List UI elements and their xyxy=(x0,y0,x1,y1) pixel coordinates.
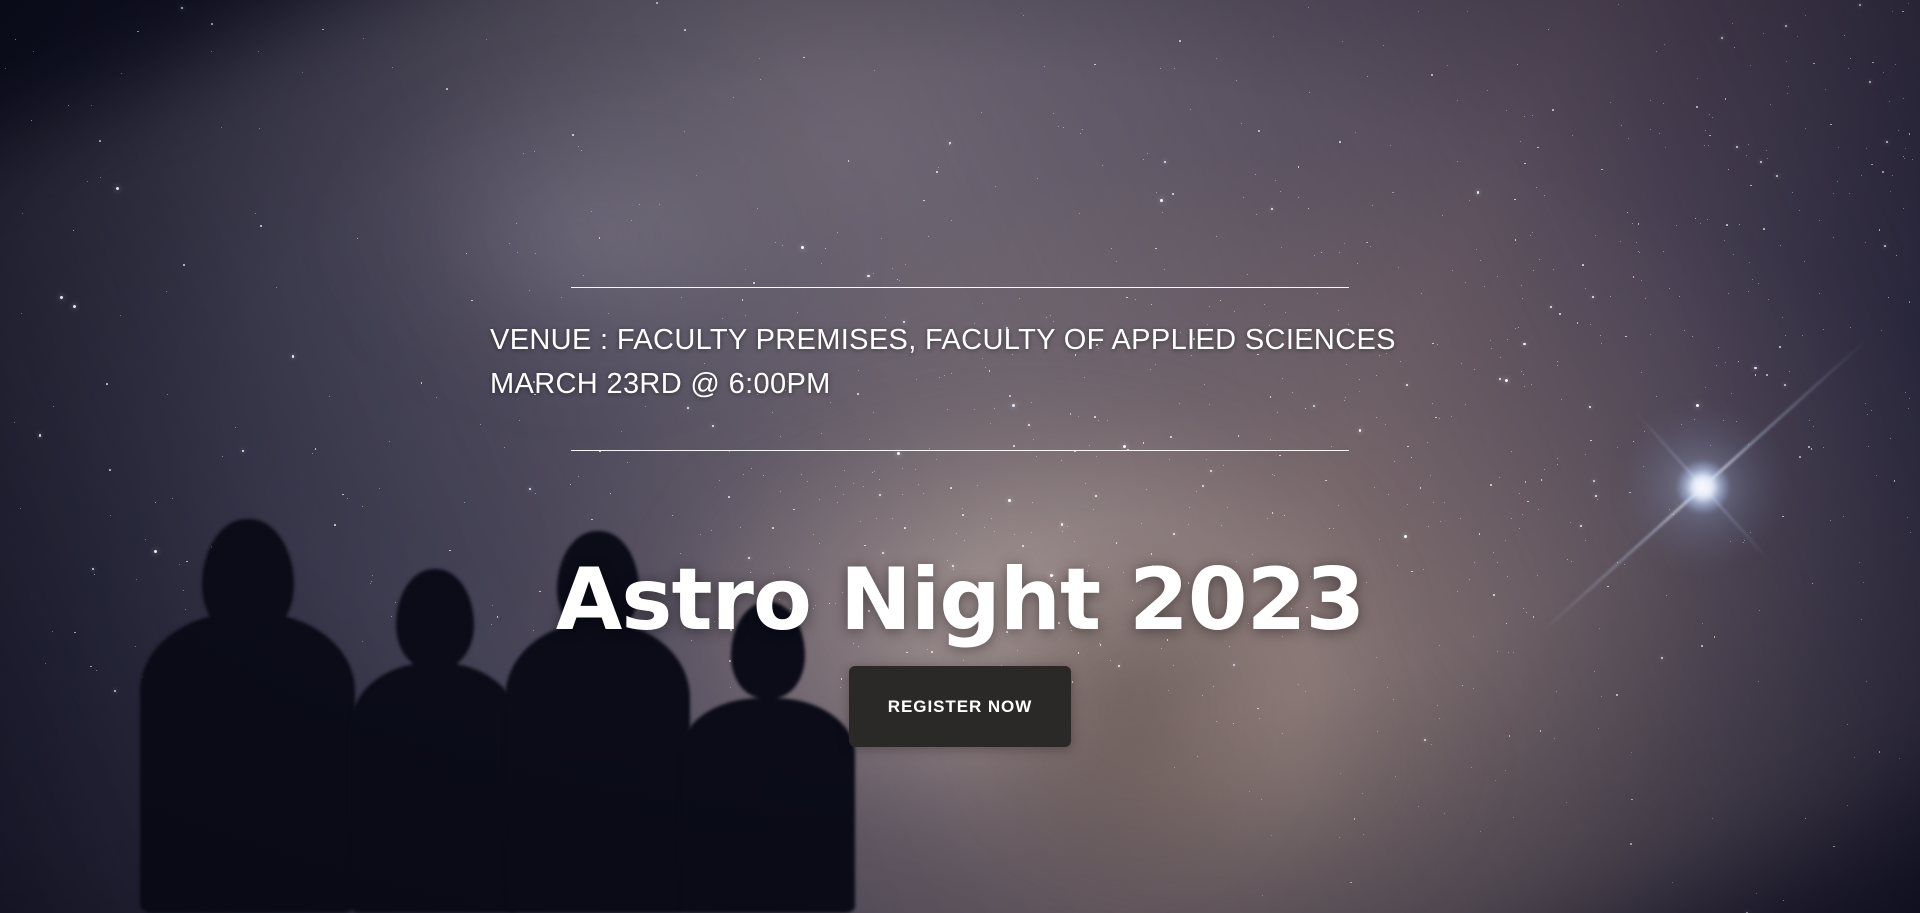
divider-bottom xyxy=(571,450,1349,451)
register-now-button[interactable]: REGISTER NOW xyxy=(849,666,1071,747)
page-title: Astro Night 2023 xyxy=(556,555,1364,646)
event-hero-banner: VENUE : FACULTY PREMISES, FACULTY OF APP… xyxy=(0,0,1920,913)
hero-content: VENUE : FACULTY PREMISES, FACULTY OF APP… xyxy=(0,0,1920,913)
event-details: VENUE : FACULTY PREMISES, FACULTY OF APP… xyxy=(490,318,1430,406)
datetime-line: MARCH 23RD @ 6:00PM xyxy=(490,362,1430,406)
divider-top xyxy=(571,287,1349,288)
cta-container: REGISTER NOW xyxy=(849,666,1071,747)
venue-line: VENUE : FACULTY PREMISES, FACULTY OF APP… xyxy=(490,318,1430,362)
